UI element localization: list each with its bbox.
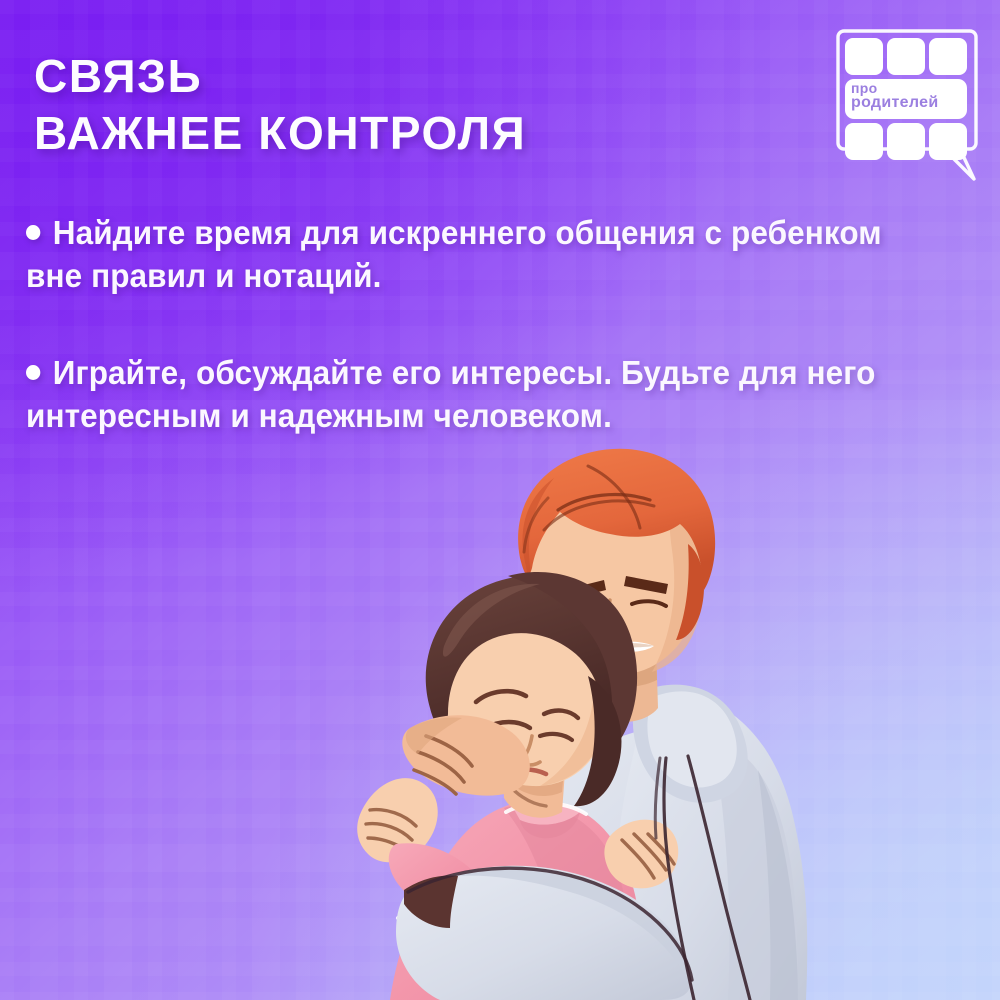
couple-hug-illustration-icon [258, 440, 958, 1000]
advice-list: Найдите время для искреннего общения с р… [26, 212, 970, 438]
logo-text-line-1: про [851, 81, 963, 95]
page-title-line-1: СВЯЗЬ [34, 50, 202, 102]
bullet-dot-icon [26, 225, 40, 240]
list-item: Играйте, обсуждайте его интересы. Будьте… [26, 352, 928, 438]
page-title-line-2: ВАЖНЕЕ КОНТРОЛЯ [34, 105, 794, 162]
brand-logo[interactable]: про родителей [834, 25, 980, 190]
logo-text-line-2: родителей [851, 95, 963, 111]
list-item: Найдите время для искреннего общения с р… [26, 212, 928, 298]
poster-root: СВЯЗЬ ВАЖНЕЕ КОНТРОЛЯ Найдите время для … [0, 0, 1000, 1000]
list-item-text: Играйте, обсуждайте его интересы. Будьте… [26, 354, 875, 434]
list-item-text: Найдите время для искреннего общения с р… [26, 214, 882, 294]
page-title: СВЯЗЬ ВАЖНЕЕ КОНТРОЛЯ [34, 48, 794, 162]
bullet-dot-icon [26, 365, 40, 380]
illustration-man-hugging-woman [258, 440, 958, 1000]
